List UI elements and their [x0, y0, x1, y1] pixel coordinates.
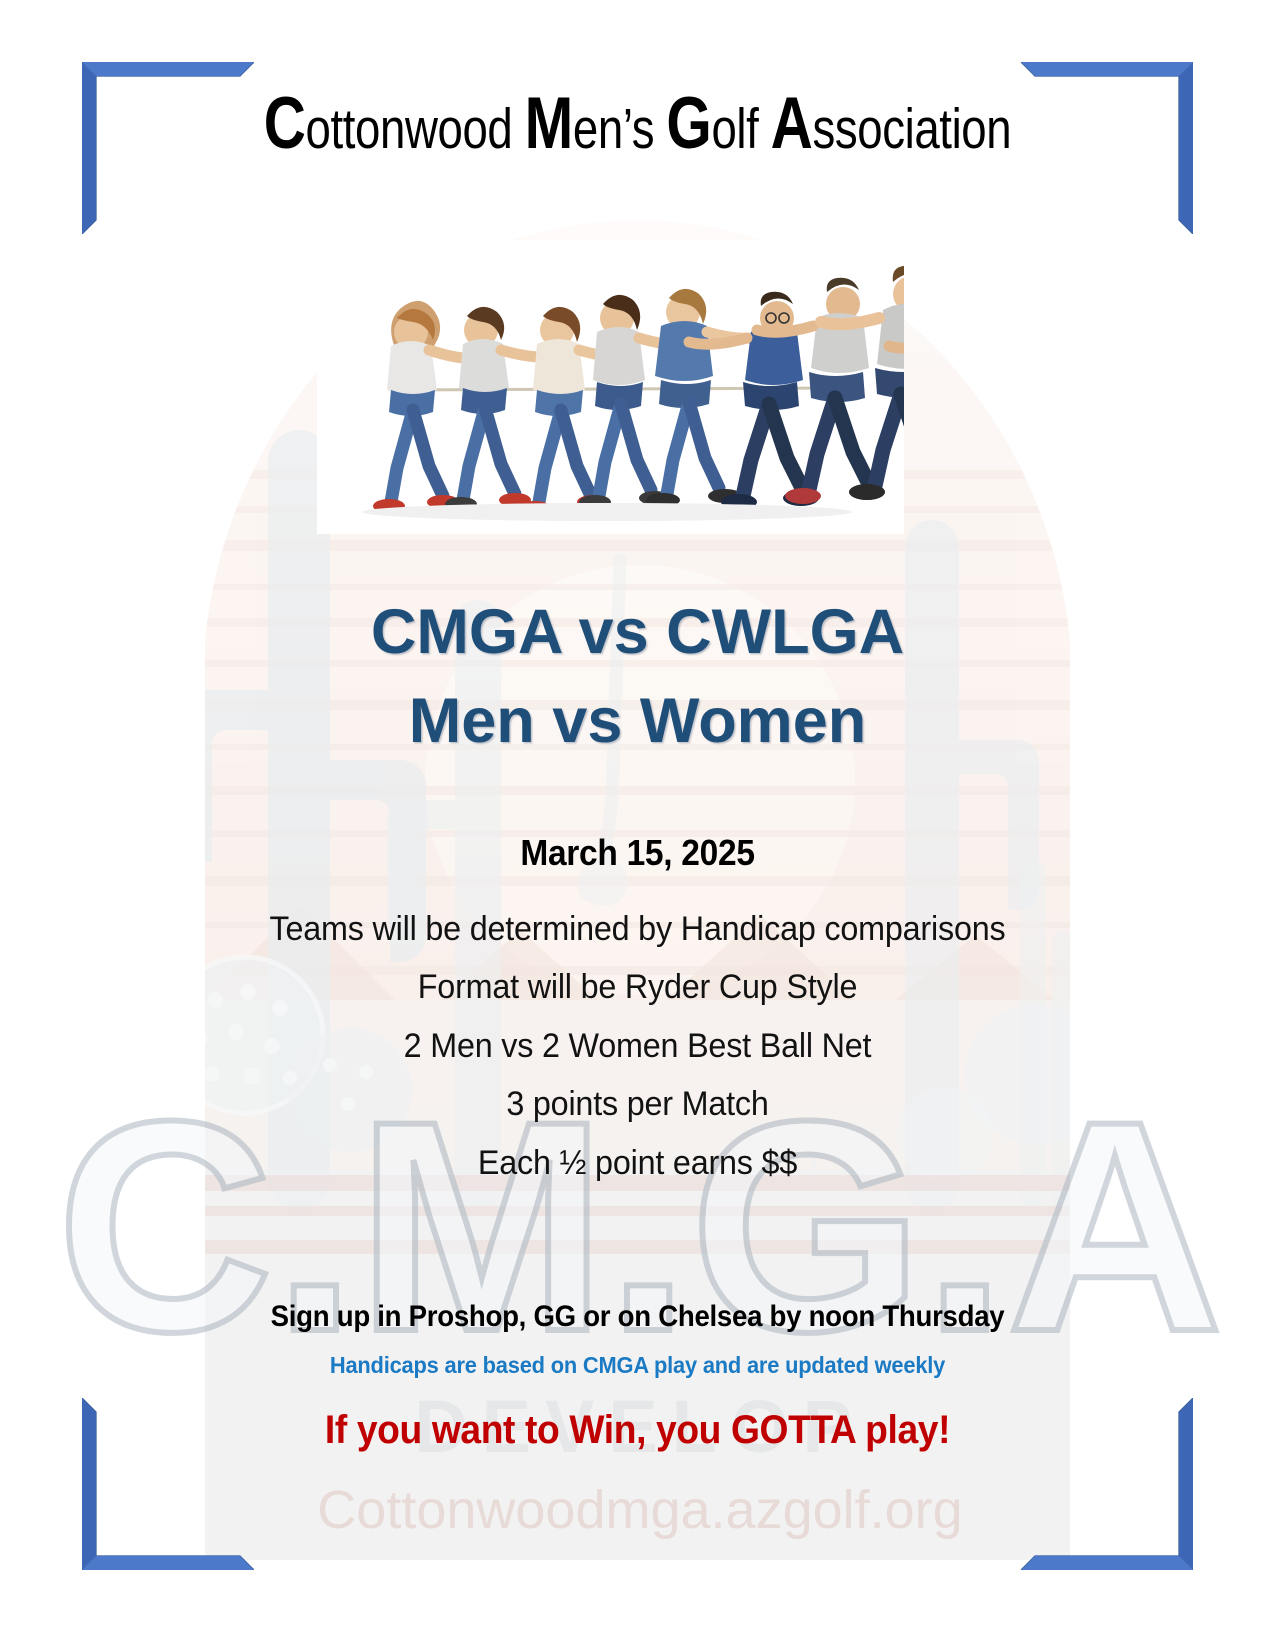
watermark-url-text: Cottonwoodmga.azgolf.org — [317, 1480, 962, 1540]
event-details-list: Teams will be determined by Handicap com… — [0, 900, 1275, 1192]
headline-line-1: CMGA vs CWLGA — [0, 588, 1275, 677]
page-title-segment-7: ssociation — [812, 97, 1011, 161]
event-detail-line-4: 3 points per Match — [32, 1075, 1243, 1133]
flyer-page: C.M.G.A DEVELOP Cottonwoodmga.azgolf.org — [0, 0, 1275, 1649]
event-detail-line-1: Teams will be determined by Handicap com… — [32, 900, 1243, 958]
event-date: March 15, 2025 — [45, 832, 1231, 874]
page-title-segment-5: olf — [711, 97, 770, 161]
headline-line-2: Men vs Women — [0, 677, 1275, 766]
page-title-segment-3: en’s — [573, 97, 667, 161]
event-detail-line-5: Each ½ point earns $$ — [32, 1134, 1243, 1192]
call-to-action: If you want to Win, you GOTTA play! — [45, 1408, 1231, 1453]
page-title-segment-6: A — [771, 83, 813, 164]
url-watermark: Cottonwoodmga.azgolf.org — [317, 1480, 962, 1540]
page-title-segment-0: C — [264, 83, 306, 164]
tug-of-war-photo — [317, 240, 904, 534]
event-detail-line-3: 2 Men vs 2 Women Best Ball Net — [32, 1017, 1243, 1075]
page-title-segment-2: M — [525, 83, 573, 164]
page-title-segment-4: G — [666, 83, 711, 164]
handicap-note: Handicaps are based on CMGA play and are… — [32, 1352, 1243, 1379]
page-title: Cottonwood Men’s Golf Association — [128, 82, 1148, 165]
page-title-segment-1: ottonwood — [306, 97, 525, 161]
signup-instructions: Sign up in Proshop, GG or on Chelsea by … — [51, 1300, 1224, 1334]
headline-block: CMGA vs CWLGA Men vs Women — [0, 588, 1275, 767]
event-detail-line-2: Format will be Ryder Cup Style — [32, 958, 1243, 1016]
